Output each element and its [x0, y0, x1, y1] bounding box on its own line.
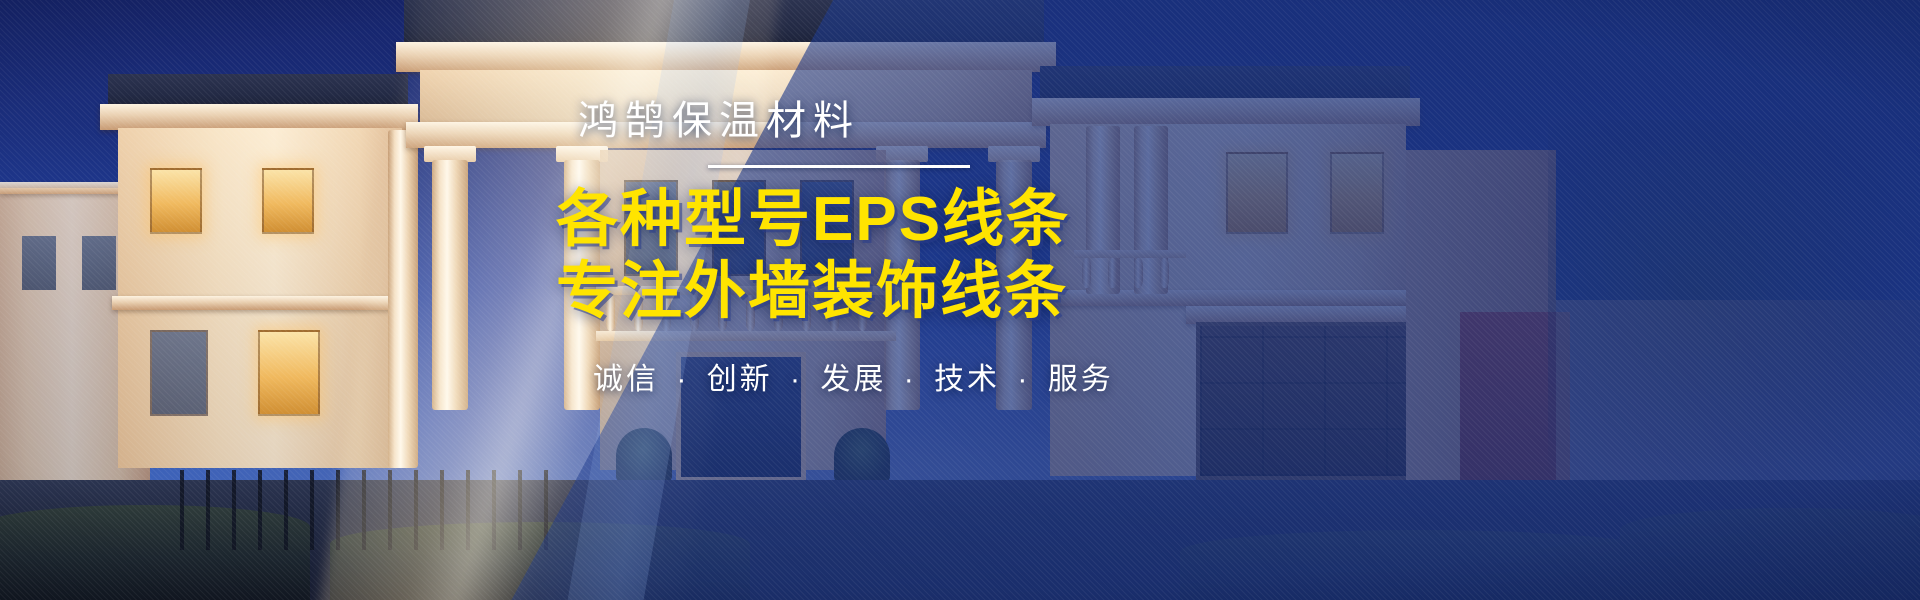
divider-rule [708, 165, 970, 168]
left-wing-pilaster [388, 130, 418, 468]
banner-content: 鸿鹄保温材料 各种型号EPS线条 专注外墙装饰线条 诚信 · 创新 · 发展 ·… [556, 96, 1316, 398]
left-wing-window-upper [150, 168, 202, 234]
tagline: 诚信 · 创新 · 发展 · 技术 · 服务 [556, 354, 1316, 398]
tagline-separator: · [676, 363, 689, 396]
tagline-separator: · [1017, 363, 1030, 396]
left-wing-window-lower [258, 330, 320, 416]
tagline-item-2: 创新 [707, 363, 773, 396]
left-wing-window-upper [262, 168, 314, 234]
left-outbuilding-window [82, 236, 116, 290]
headline-line-2: 专注外墙装饰线条 [556, 256, 1316, 328]
left-wing-window-lower-dark [150, 330, 208, 416]
left-wing-band [112, 296, 408, 310]
brand-subtitle: 鸿鹄保温材料 [556, 96, 1316, 146]
tagline-separator: · [904, 363, 917, 396]
headline-group: 各种型号EPS线条 专注外墙装饰线条 [556, 184, 1316, 328]
tagline-item-1: 诚信 [593, 363, 659, 396]
left-outbuilding-window [22, 236, 56, 290]
left-wing-cornice [100, 104, 418, 130]
promo-banner: 鸿鹄保温材料 各种型号EPS线条 专注外墙装饰线条 诚信 · 创新 · 发展 ·… [0, 0, 1920, 600]
portico-column [432, 160, 468, 410]
tagline-item-3: 发展 [820, 363, 886, 396]
left-wing-roof [108, 74, 408, 108]
tagline-item-5: 服务 [1048, 363, 1114, 396]
tagline-separator: · [790, 363, 803, 396]
headline-line-1: 各种型号EPS线条 [556, 184, 1316, 256]
foreground-railing [180, 470, 560, 550]
tagline-item-4: 技术 [934, 363, 1000, 396]
